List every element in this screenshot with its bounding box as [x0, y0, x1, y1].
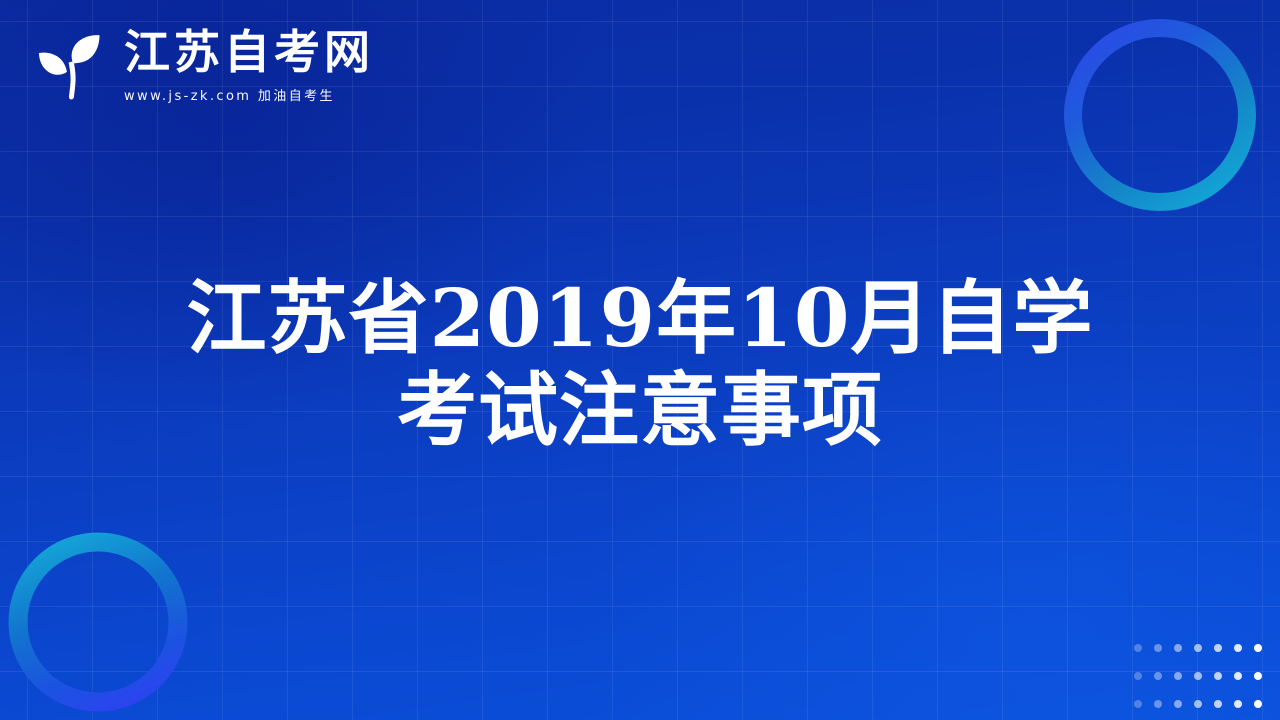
logo-text-group: 江苏自考网 www.js-zk.com 加油自考生	[124, 26, 374, 104]
page-title-line-2: 考试注意事项	[0, 364, 1280, 456]
decorative-dot-matrix	[1128, 634, 1268, 718]
page-title-line-1: 江苏省2019年10月自学	[0, 272, 1280, 364]
logo-wordmark: 江苏自考网	[124, 28, 374, 76]
sprout-icon	[32, 28, 114, 110]
decorative-ring-bottom-left	[8, 532, 188, 712]
site-logo[interactable]: 江苏自考网 www.js-zk.com 加油自考生	[32, 26, 374, 110]
logo-tagline: www.js-zk.com 加油自考生	[124, 85, 335, 104]
banner-canvas: 江苏自考网 www.js-zk.com 加油自考生 江苏省2019年10月自学 …	[0, 0, 1280, 720]
page-title: 江苏省2019年10月自学 考试注意事项	[0, 272, 1280, 456]
decorative-ring-top-right	[1063, 18, 1257, 212]
